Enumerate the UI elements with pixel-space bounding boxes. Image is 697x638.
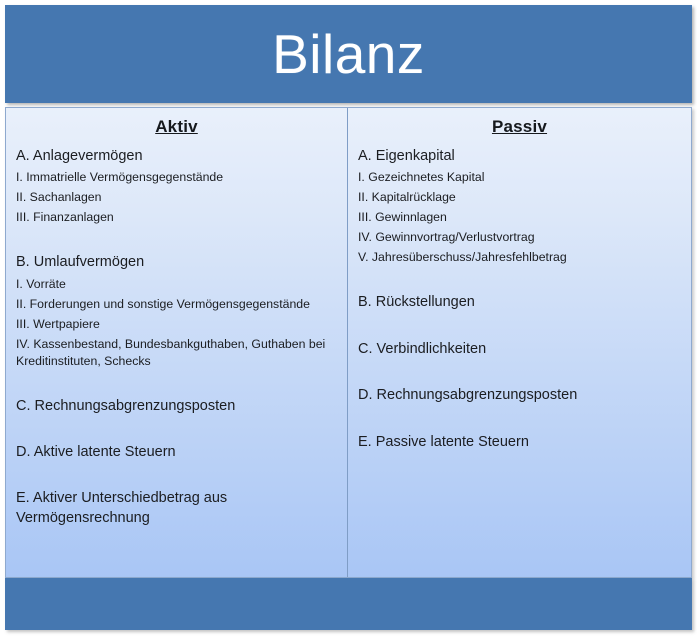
balance-entry: V. Jahresüberschuss/Jahresfehlbetrag: [358, 249, 681, 266]
column-header-aktiv: Aktiv: [16, 114, 337, 147]
balance-entry: III. Gewinnlagen: [358, 209, 681, 226]
column-header-passiv: Passiv: [358, 114, 681, 147]
column-body-passiv: A. EigenkapitalI. Gezeichnetes KapitalII…: [358, 147, 681, 452]
column-body-aktiv: A. AnlagevermögenI. Immatrielle Vermögen…: [16, 147, 337, 528]
balance-entry: B. Umlaufvermögen: [16, 253, 337, 272]
balance-entry: C. Rechnungsabgrenzungsposten: [16, 397, 337, 416]
balance-entry: I. Vorräte: [16, 276, 337, 293]
balance-entry: II. Forderungen und sonstige Vermögensge…: [16, 296, 337, 313]
balance-entry: III. Finanzanlagen: [16, 209, 337, 226]
balance-entry: IV. Gewinnvortrag/Verlustvortrag: [358, 229, 681, 246]
column-passiv: Passiv A. EigenkapitalI. Gezeichnetes Ka…: [348, 108, 691, 577]
balance-entry: D. Rechnungsabgrenzungsposten: [358, 386, 681, 405]
title-bar: Bilanz: [5, 5, 692, 103]
balance-entry: I. Immatrielle Vermögensgegenstände: [16, 169, 337, 186]
balance-sheet-table: Aktiv A. AnlagevermögenI. Immatrielle Ve…: [5, 107, 692, 578]
balance-entry: A. Eigenkapital: [358, 147, 681, 166]
column-aktiv: Aktiv A. AnlagevermögenI. Immatrielle Ve…: [6, 108, 348, 577]
page-title: Bilanz: [272, 27, 425, 82]
balance-entry: IV. Kassenbestand, Bundesbankguthaben, G…: [16, 336, 337, 370]
slide-canvas: Bilanz Aktiv A. AnlagevermögenI. Immatri…: [0, 0, 697, 638]
balance-entry: E. Passive latente Steuern: [358, 433, 681, 452]
balance-entry: E. Aktiver Unterschiedbetrag aus Vermöge…: [16, 489, 337, 528]
balance-entry: III. Wertpapiere: [16, 316, 337, 333]
balance-entry: I. Gezeichnetes Kapital: [358, 169, 681, 186]
balance-entry: B. Rückstellungen: [358, 293, 681, 312]
balance-entry: II. Kapitalrücklage: [358, 189, 681, 206]
balance-entry: C. Verbindlichkeiten: [358, 340, 681, 359]
balance-entry: D. Aktive latente Steuern: [16, 443, 337, 462]
footer-bar: [5, 578, 692, 630]
balance-entry: A. Anlagevermögen: [16, 147, 337, 166]
balance-entry: II. Sachanlagen: [16, 189, 337, 206]
